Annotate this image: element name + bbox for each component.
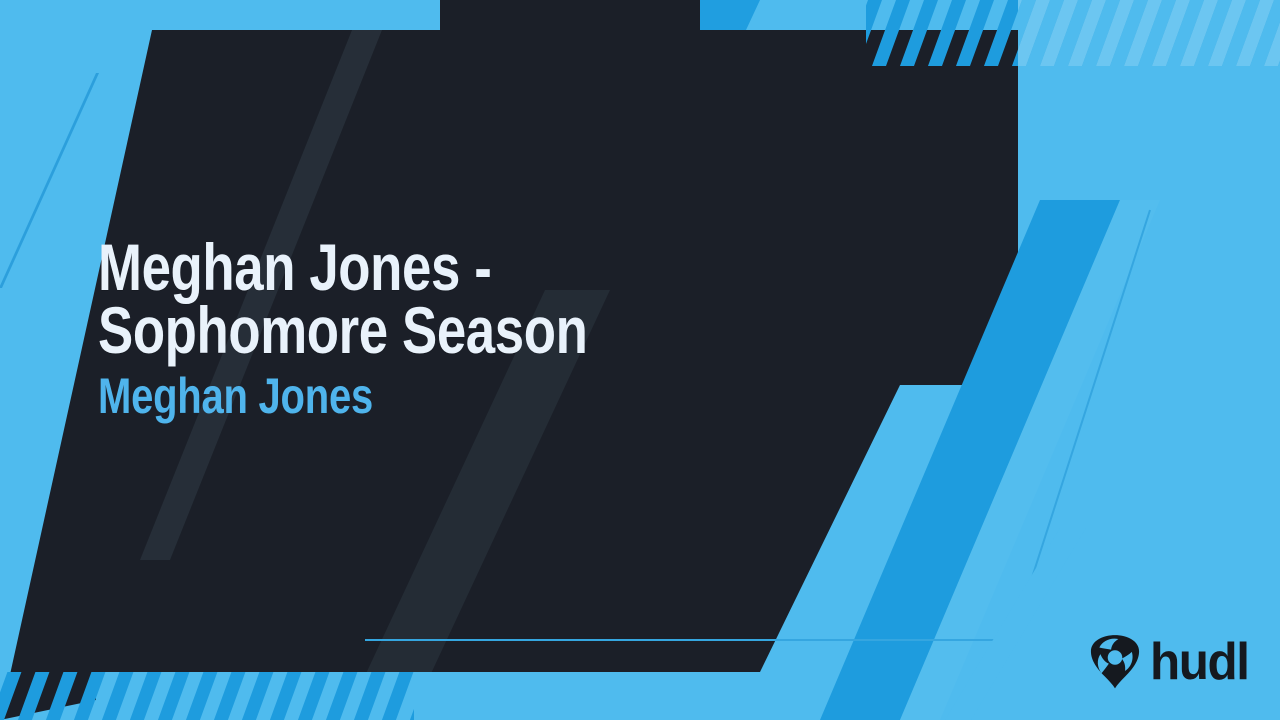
title-slide: Meghan Jones - Sophomore Season Meghan J… bbox=[0, 0, 1280, 720]
hudl-shield-icon bbox=[1087, 634, 1143, 690]
hudl-wordmark: hudl bbox=[1150, 636, 1249, 688]
title-group: Meghan Jones - Sophomore Season Meghan J… bbox=[98, 236, 798, 421]
top-right-stripe-band-pale bbox=[1018, 0, 1280, 66]
hudl-logo: hudl bbox=[1087, 634, 1254, 690]
page-subtitle: Meghan Jones bbox=[98, 371, 658, 421]
page-title: Meghan Jones - Sophomore Season bbox=[98, 236, 658, 361]
